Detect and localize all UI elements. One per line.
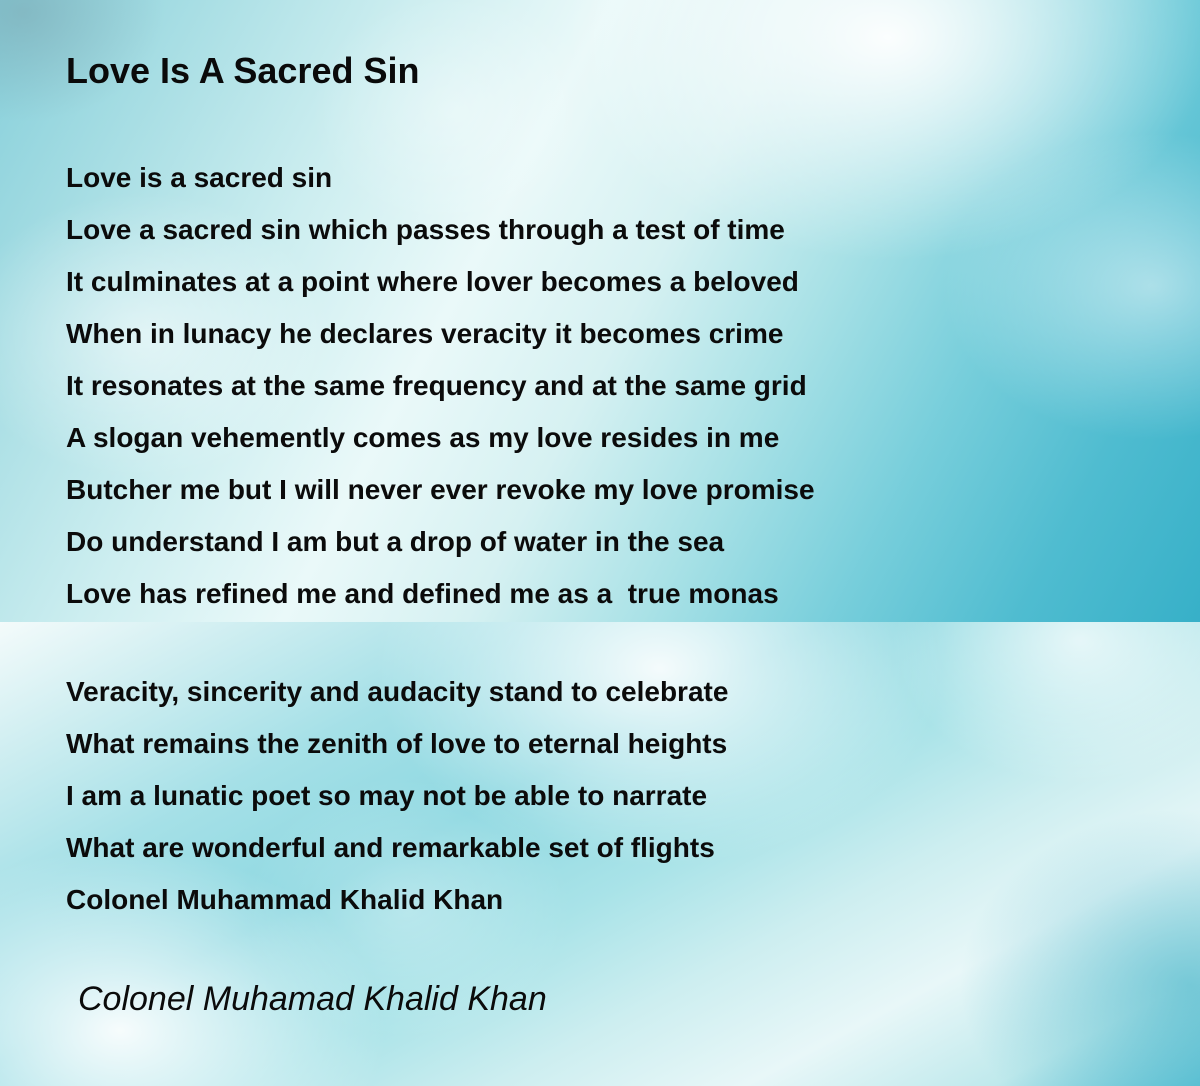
poem-line: When in lunacy he declares veracity it b… [66, 308, 815, 360]
poem-line: It resonates at the same frequency and a… [66, 360, 815, 412]
stanza-one: Love is a sacred sin Love a sacred sin w… [66, 152, 815, 620]
poem-line: Butcher me but I will never ever revoke … [66, 464, 815, 516]
poem-line: Do understand I am but a drop of water i… [66, 516, 815, 568]
poem-line: A slogan vehemently comes as my love res… [66, 412, 815, 464]
poem-line: Veracity, sincerity and audacity stand t… [66, 666, 728, 718]
poem-line: I am a lunatic poet so may not be able t… [66, 770, 728, 822]
poem-line: Love has refined me and defined me as a … [66, 568, 815, 620]
poem-line: Love is a sacred sin [66, 152, 815, 204]
poem-line: Love a sacred sin which passes through a… [66, 204, 815, 256]
poem-line: What are wonderful and remarkable set of… [66, 822, 728, 874]
author-signature: Colonel Muhamad Khalid Khan [78, 980, 547, 1019]
poem-line: Colonel Muhammad Khalid Khan [66, 874, 728, 926]
poem-text-layer: Love Is A Sacred Sin Love is a sacred si… [0, 0, 1200, 1086]
poem-line: What remains the zenith of love to etern… [66, 718, 728, 770]
poem-page: Love Is A Sacred Sin Love is a sacred si… [0, 0, 1200, 1086]
poem-line: It culminates at a point where lover bec… [66, 256, 815, 308]
page-title: Love Is A Sacred Sin [66, 50, 419, 92]
stanza-two: Veracity, sincerity and audacity stand t… [66, 666, 728, 926]
